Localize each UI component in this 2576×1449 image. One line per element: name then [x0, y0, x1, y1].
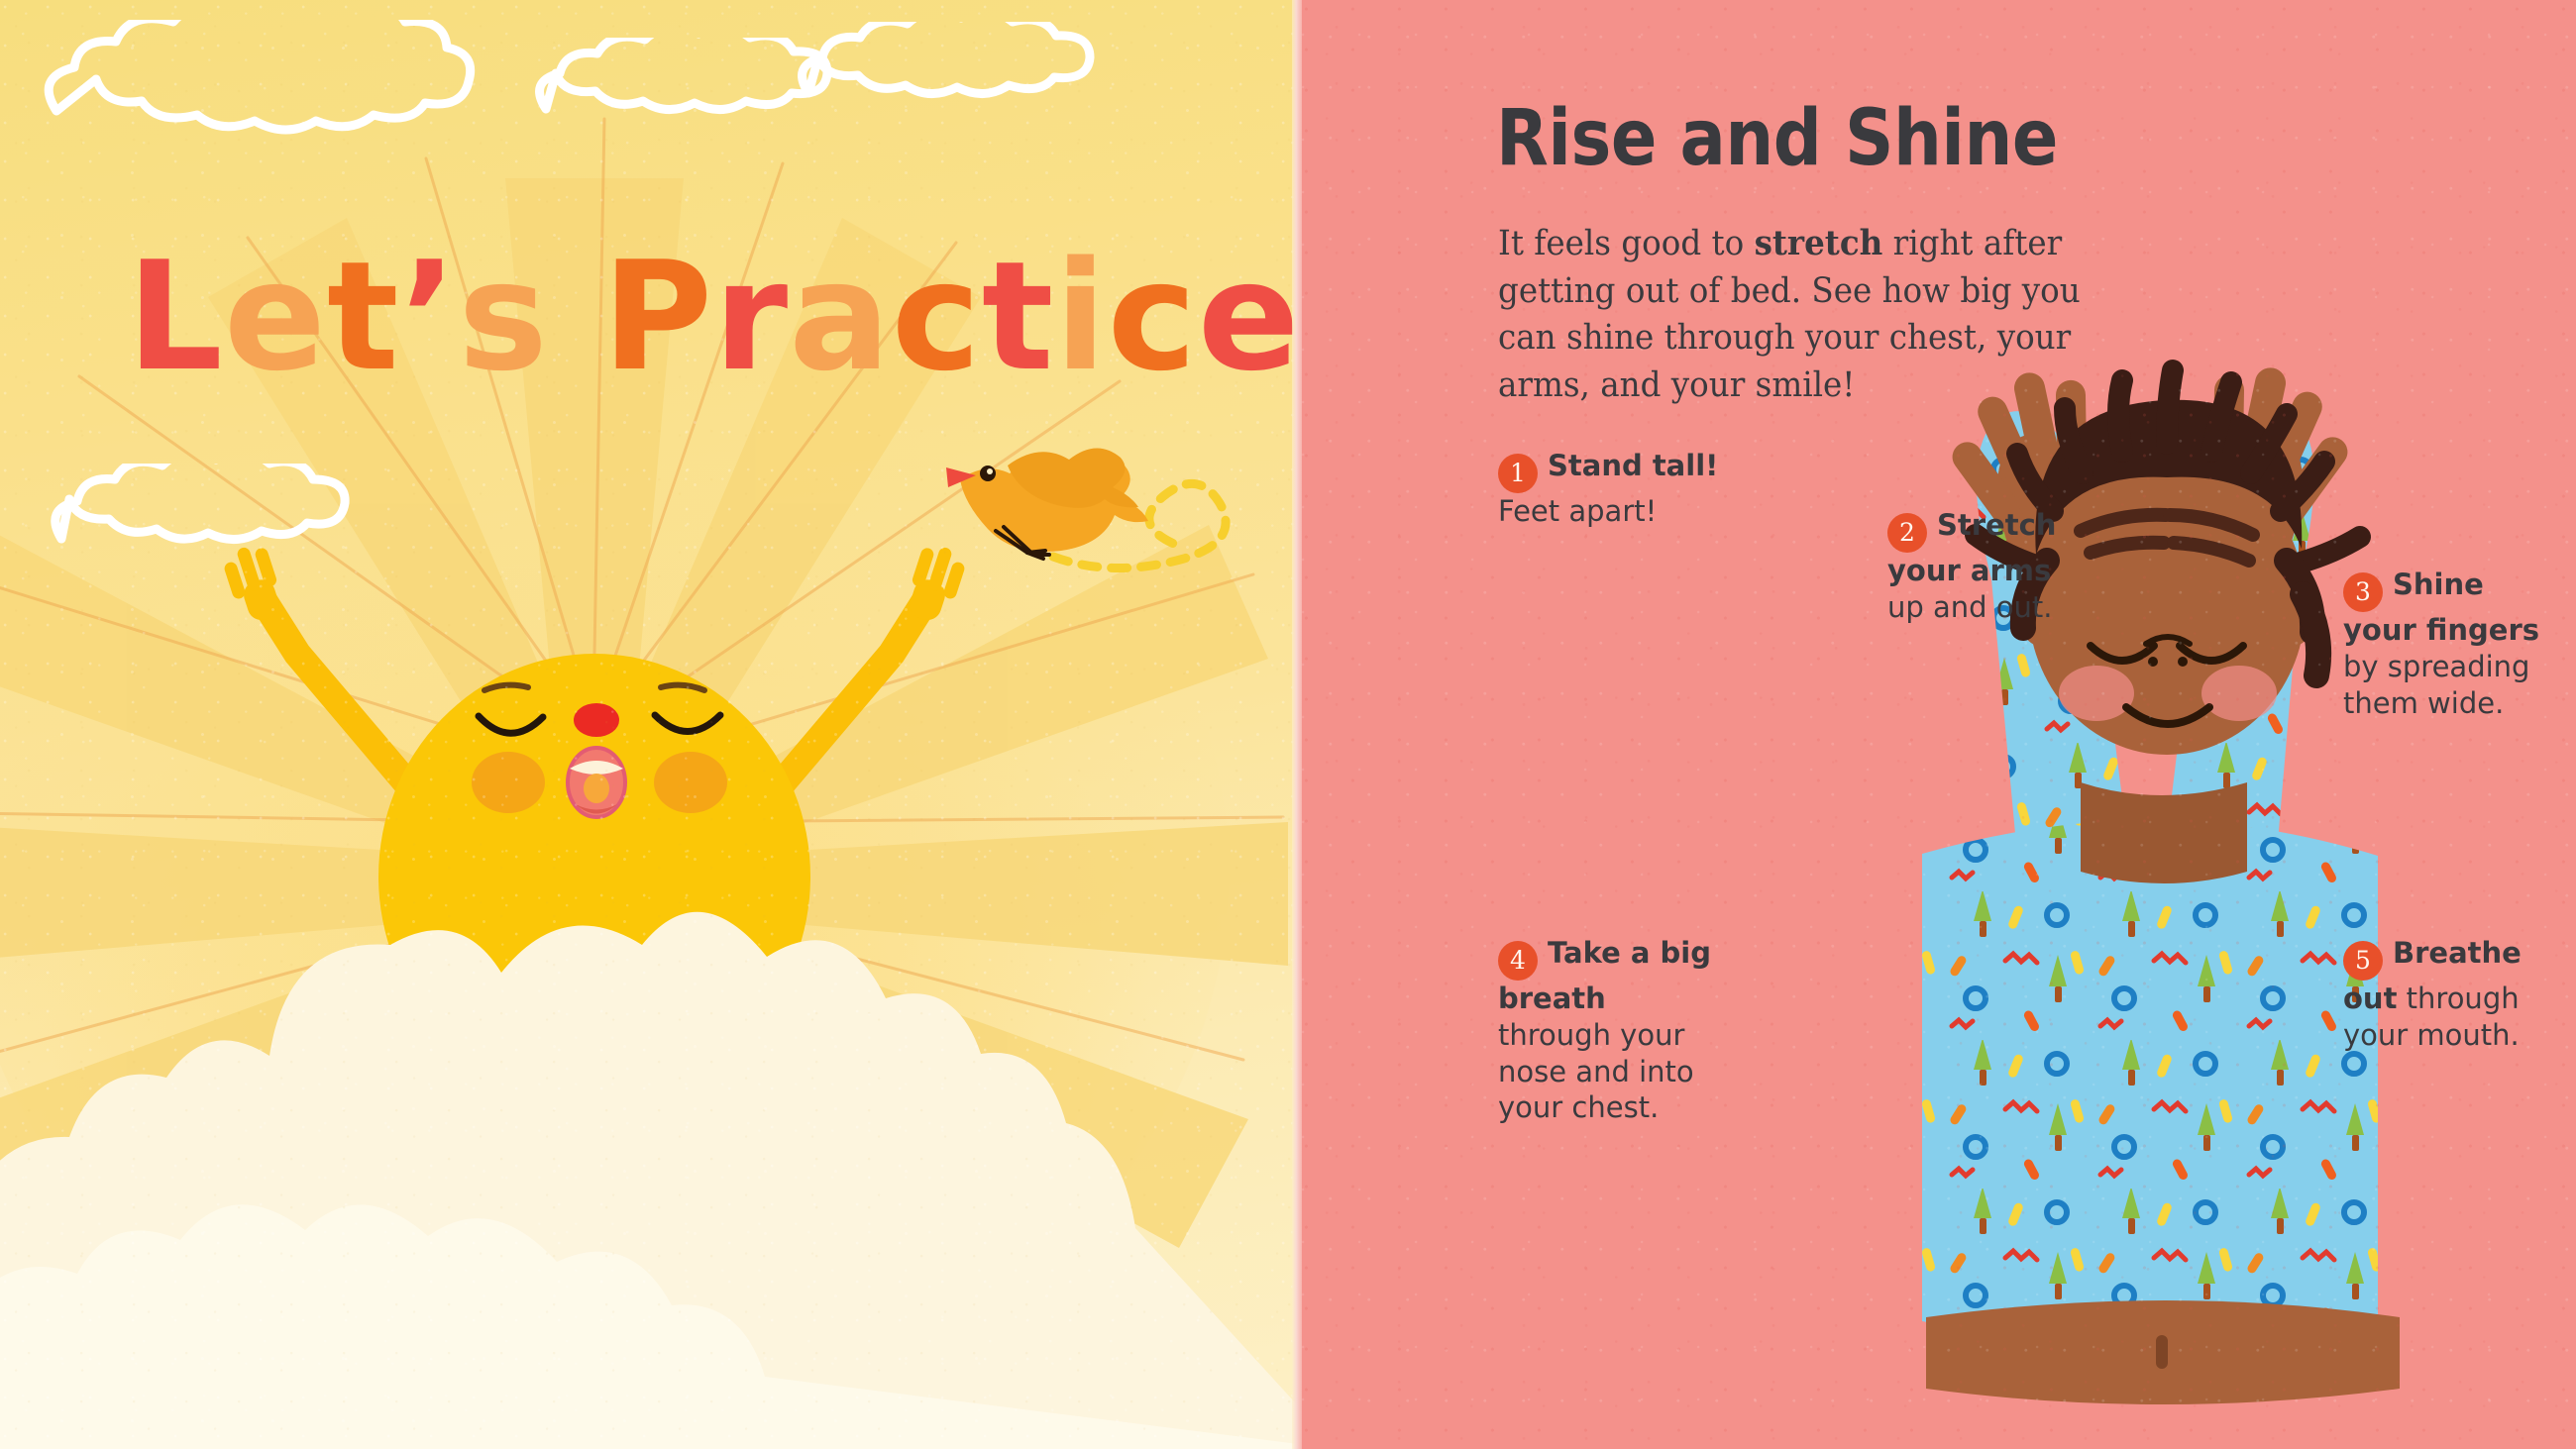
callout-2: 2Stretch your arms up and out. [1887, 507, 2095, 626]
child-neck [2081, 782, 2247, 883]
title-letter-11: i [1055, 242, 1108, 392]
child-waistband [1926, 1300, 2400, 1404]
page-title-rise-and-shine: Rise and Shine [1496, 94, 2058, 183]
title-letter-9: c [892, 242, 982, 392]
page-gutter-seam [1292, 0, 1302, 1449]
cloud-outline-4 [38, 464, 424, 577]
right-page: Rise and Shine It feels good to stretch … [1298, 0, 2576, 1449]
callout-4-rest: through your nose and into your chest. [1498, 1018, 1694, 1125]
book-spread: Let’s Practice [0, 0, 2576, 1449]
left-page: Let’s Practice [0, 0, 1298, 1449]
callout-5-badge: 5 [2343, 941, 2383, 981]
intro-bold-stretch: stretch [1755, 223, 1883, 263]
title-letter-1: e [224, 242, 327, 392]
title-letter-8: a [789, 242, 892, 392]
callout-1: 1Stand tall! Feet apart! [1498, 448, 1726, 530]
title-letter-12: c [1108, 242, 1198, 392]
bird-body [946, 448, 1148, 559]
title-letter-6: P [602, 242, 713, 392]
callout-5: 5Breathe out through your mouth. [2343, 935, 2556, 1054]
child-stretching-illustration [1298, 0, 2576, 1449]
callout-4: 4Take a big breath through your nose and… [1498, 935, 1724, 1126]
callout-2-badge: 2 [1887, 513, 1927, 553]
callout-3-badge: 3 [2343, 572, 2383, 612]
callout-4-badge: 4 [1498, 941, 1538, 981]
title-letter-3: ’ [400, 242, 459, 392]
child-torso [1922, 820, 2378, 1343]
callout-3: 3Shine your fingers by spreading them wi… [2343, 567, 2559, 721]
intro-paragraph: It feels good to stretch right after get… [1498, 220, 2088, 409]
callout-1-rest: Feet apart! [1498, 494, 1657, 528]
title-letter-4: s [458, 242, 548, 392]
title-letter-10: t [982, 242, 1055, 392]
callout-3-rest: by spreading them wide. [2343, 650, 2529, 720]
callout-1-bold: Stand tall! [1548, 449, 1718, 482]
cloud-outline-3 [783, 22, 1199, 126]
title-letter-7: r [713, 242, 789, 392]
page-title-lets-practice: Let’s Practice [127, 242, 1298, 392]
title-letter-13: e [1198, 242, 1298, 392]
callout-1-badge: 1 [1498, 454, 1538, 493]
bird-icon [936, 436, 1253, 624]
callout-2-rest: up and out. [1887, 590, 2053, 624]
intro-before: It feels good to [1498, 224, 1755, 263]
title-letter-2: t [327, 242, 400, 392]
title-letter-5 [549, 242, 602, 392]
left-page-illustration [0, 0, 1298, 1449]
title-letter-0: L [127, 242, 224, 392]
